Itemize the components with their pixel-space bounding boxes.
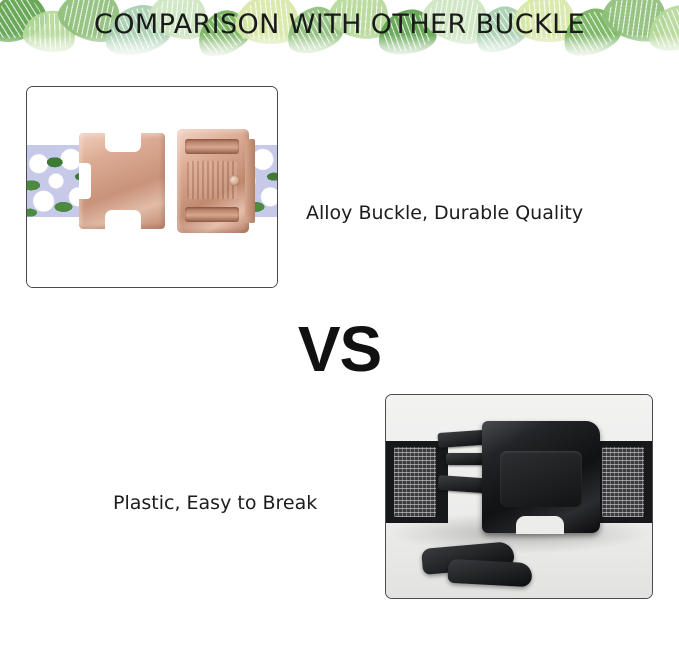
plastic-buckle-photo [386, 395, 652, 598]
plastic-buckle-photo-frame [385, 394, 653, 599]
page-title: COMPARISON WITH OTHER BUCKLE [0, 9, 679, 40]
header-banner: COMPARISON WITH OTHER BUCKLE [0, 0, 679, 56]
buckle-notch [79, 163, 91, 199]
buckle-slot-bottom [185, 207, 239, 222]
plastic-buckle-body [482, 421, 600, 533]
buckle-notch [516, 516, 564, 534]
alloy-buckle-photo-frame [26, 86, 278, 288]
buckle-rivet [229, 175, 240, 186]
buckle-slot-top [185, 139, 239, 154]
alloy-buckle-caption: Alloy Buckle, Durable Quality [306, 202, 583, 224]
alloy-buckle-photo [27, 87, 277, 287]
plastic-buckle-caption: Plastic, Easy to Break [113, 492, 317, 514]
versus-label: VS [0, 312, 679, 386]
alloy-buckle-female-half [177, 129, 249, 233]
alloy-buckle-male-half [79, 133, 165, 229]
floral-strap-left [26, 145, 87, 217]
broken-fragment-two [447, 559, 532, 587]
buckle-edge [245, 139, 255, 223]
